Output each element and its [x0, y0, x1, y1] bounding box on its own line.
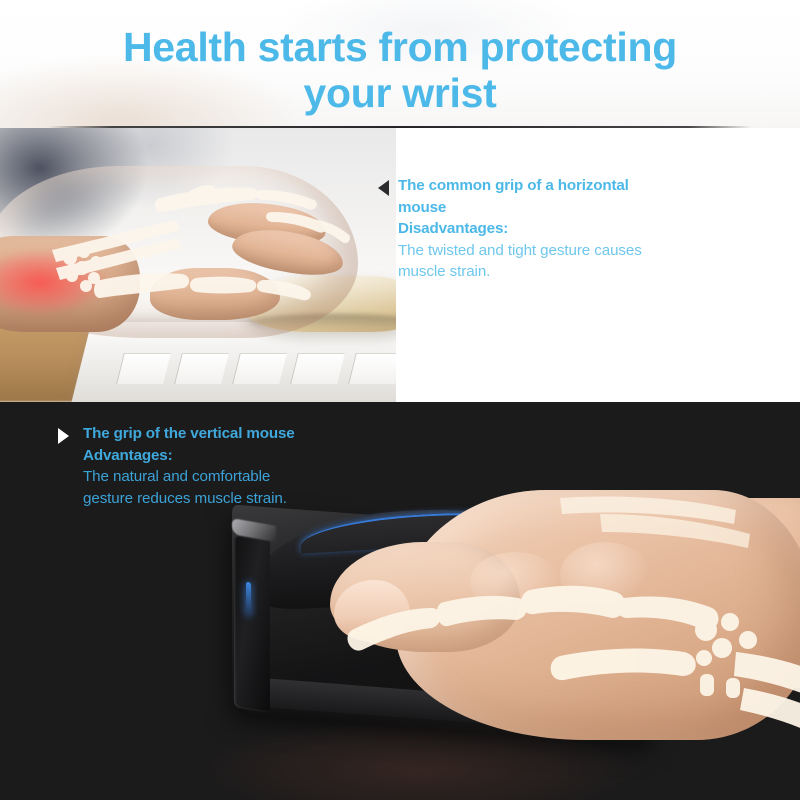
advantages-label: Advantages:	[83, 445, 418, 467]
vertical-mouse-panel: The grip of the vertical mouse Advantage…	[0, 402, 800, 800]
horizontal-heading-line-2: mouse	[398, 197, 734, 219]
bone-overlay-top	[0, 128, 396, 402]
vertical-callout-text: The grip of the vertical mouse Advantage…	[83, 423, 418, 509]
horizontal-body-line-2: muscle strain.	[398, 261, 734, 283]
vertical-heading-line-1: The grip of the vertical mouse	[83, 423, 418, 445]
horizontal-callout-text: The common grip of a horizontal mouse Di…	[398, 175, 734, 283]
disadvantages-label: Disadvantages:	[398, 218, 734, 240]
page-title: Health starts from protecting your wrist	[0, 24, 800, 116]
horizontal-mouse-callout: The common grip of a horizontal mouse Di…	[378, 175, 734, 283]
horizontal-mouse-photo	[0, 128, 396, 402]
horizontal-heading-line-1: The common grip of a horizontal	[398, 175, 734, 197]
vertical-body-line-1: The natural and comfortable	[83, 466, 418, 488]
horizontal-body-line-1: The twisted and tight gesture causes	[398, 240, 734, 262]
title-divider	[48, 126, 752, 128]
triangle-left-icon	[378, 180, 389, 196]
title-line-2: your wrist	[0, 70, 800, 116]
horizontal-mouse-panel: Health starts from protecting your wrist…	[0, 0, 800, 402]
title-line-1: Health starts from protecting	[0, 24, 800, 70]
triangle-right-icon	[58, 428, 69, 444]
vertical-mouse-callout: The grip of the vertical mouse Advantage…	[58, 423, 418, 509]
product-infographic: Health starts from protecting your wrist…	[0, 0, 800, 800]
vertical-body-line-2: gesture reduces muscle strain.	[83, 488, 418, 510]
